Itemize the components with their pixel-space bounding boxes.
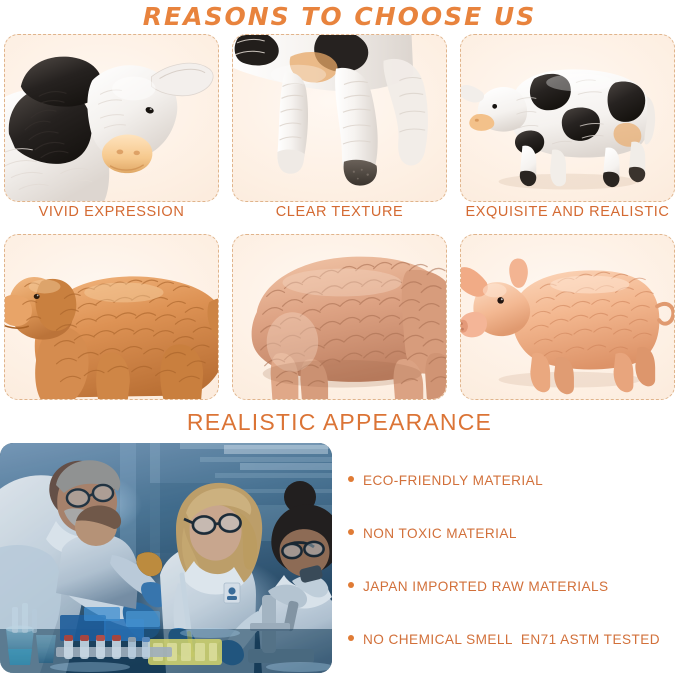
bullet-item: NO CHEMICAL SMELL EN71 ASTM TESTED — [348, 632, 679, 647]
bullet-dot-icon — [348, 476, 354, 482]
cow-full-body-image — [461, 35, 674, 201]
laboratory-scene-image — [0, 443, 332, 673]
feature-caption-row: VIVID EXPRESSION CLEAR TEXTURE EXQUISITE… — [4, 204, 675, 220]
caption-vivid-expression: VIVID EXPRESSION — [4, 204, 219, 220]
feature-card-vivid-expression — [4, 34, 219, 202]
bullet-label: NON TOXIC MATERIAL — [363, 526, 517, 541]
cow-head-closeup-image — [5, 35, 218, 201]
bullet-label: JAPAN IMPORTED RAW MATERIALS — [363, 579, 609, 594]
page-title: REASONS TO CHOOSE US — [0, 2, 679, 31]
infographic-page: REASONS TO CHOOSE US — [0, 0, 679, 677]
feature-card-dog — [4, 234, 219, 400]
feature-card-clear-texture — [232, 34, 447, 202]
caption-exquisite-realistic: EXQUISITE AND REALISTIC — [460, 204, 675, 220]
cow-legs-closeup-image — [233, 35, 446, 201]
section-title: REALISTIC APPEARANCE — [0, 409, 679, 436]
feature-card-sheep-texture — [232, 234, 447, 400]
bullet-dot-icon — [348, 529, 354, 535]
bullet-label: NO CHEMICAL SMELL EN71 ASTM TESTED — [363, 632, 660, 647]
dog-golden-retriever-image — [5, 235, 218, 399]
feature-card-exquisite-realistic — [460, 34, 675, 202]
bullet-dot-icon — [348, 635, 354, 641]
sheep-fur-texture-image — [233, 235, 446, 399]
features-bullet-list: ECO-FRIENDLY MATERIAL NON TOXIC MATERIAL… — [348, 473, 679, 647]
bottom-section: ECO-FRIENDLY MATERIAL NON TOXIC MATERIAL… — [0, 443, 679, 677]
bullet-item: ECO-FRIENDLY MATERIAL — [348, 473, 679, 488]
feature-card-pig — [460, 234, 675, 400]
bullet-item: JAPAN IMPORTED RAW MATERIALS — [348, 579, 679, 594]
bullet-label: ECO-FRIENDLY MATERIAL — [363, 473, 543, 488]
feature-card-row-1 — [4, 34, 675, 202]
bullet-item: NON TOXIC MATERIAL — [348, 526, 679, 541]
caption-clear-texture: CLEAR TEXTURE — [232, 204, 447, 220]
pig-full-body-image — [461, 235, 674, 399]
laboratory-photo — [0, 443, 332, 673]
bullet-dot-icon — [348, 582, 354, 588]
feature-card-row-2 — [4, 234, 675, 400]
